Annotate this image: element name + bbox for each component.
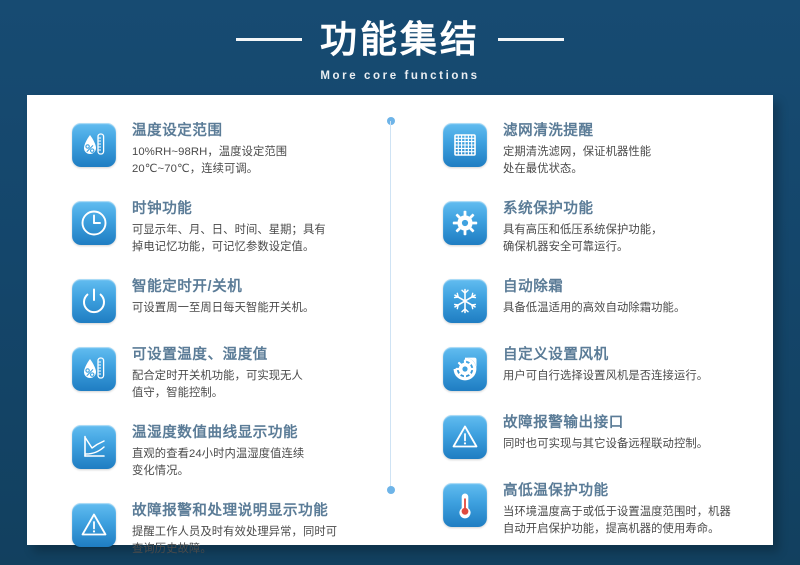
feature-item-set-temp-humidity: 可设置温度、湿度值 配合定时开关机功能，可实现无人 值守，智能控制。 [72, 344, 386, 401]
feature-title: 自动除霜 [503, 277, 685, 297]
blower-fan-icon [443, 347, 487, 391]
curve-chart-icon [72, 425, 116, 469]
feature-item-smart-timer-power: 智能定时开/关机 可设置周一至周日每天智能开关机。 [72, 276, 386, 323]
feature-item-curve-display: 温湿度数值曲线显示功能 直观的查看24小时内温湿度值连续 变化情况。 [72, 422, 386, 479]
feature-body: 自定义设置风机 用户可自行选择设置风机是否连接运行。 [487, 344, 708, 385]
humidity-thermometer-icon [72, 347, 116, 391]
feature-description: 可设置周一至周日每天智能开关机。 [132, 300, 314, 317]
feature-body: 时钟功能 可显示年、月、日、时间、星期；具有 掉电记忆功能，可记忆参数设定值。 [116, 198, 326, 255]
humidity-thermometer-icon [72, 123, 116, 167]
feature-title: 可设置温度、湿度值 [132, 345, 303, 365]
page-header: 功能集结 More core functions [0, 0, 800, 95]
feature-body: 可设置温度、湿度值 配合定时开关机功能，可实现无人 值守，智能控制。 [116, 344, 303, 401]
gear-icon [443, 201, 487, 245]
feature-body: 温湿度数值曲线显示功能 直观的查看24小时内温湿度值连续 变化情况。 [116, 422, 304, 479]
feature-title: 智能定时开/关机 [132, 277, 314, 297]
feature-item-temperature-range: 温度设定范围 10%RH~98RH，温度设定范围 20℃~70℃，连续可调。 [72, 120, 386, 177]
snowflake-icon [443, 279, 487, 323]
feature-description: 具有高压和低压系统保护功能， 确保机器安全可靠运行。 [503, 222, 663, 255]
feature-body: 系统保护功能 具有高压和低压系统保护功能， 确保机器安全可靠运行。 [487, 198, 663, 255]
feature-body: 故障报警和处理说明显示功能 提醒工作人员及时有效处理异常，同时可 查询历史故障。 [116, 500, 337, 557]
feature-title: 温湿度数值曲线显示功能 [132, 423, 304, 443]
feature-item-temp-protection: 高低温保护功能 当环境温度高于或低于设置温度范围时，机器 自动开启保护功能，提高… [443, 480, 759, 537]
feature-item-fault-alarm-display: 故障报警和处理说明显示功能 提醒工作人员及时有效处理异常，同时可 查询历史故障。 [72, 500, 386, 557]
feature-description: 同时也可实现与其它设备远程联动控制。 [503, 436, 708, 453]
clock-icon [72, 201, 116, 245]
feature-body: 故障报警输出接口 同时也可实现与其它设备远程联动控制。 [487, 412, 708, 453]
features-right-column: 滤网清洗提醒 定期清洗滤网，保证机器性能 处在最优状态。 [400, 95, 773, 545]
divider-line [390, 121, 391, 490]
feature-description: 定期清洗滤网，保证机器性能 处在最优状态。 [503, 144, 651, 177]
title-row: 功能集结 [236, 18, 564, 62]
feature-item-auto-defrost: 自动除霜 具备低温适用的高效自动除霜功能。 [443, 276, 759, 323]
feature-body: 自动除霜 具备低温适用的高效自动除霜功能。 [487, 276, 685, 317]
feature-title: 时钟功能 [132, 199, 326, 219]
page-subtitle: More core functions [320, 70, 479, 82]
features-left-column: 温度设定范围 10%RH~98RH，温度设定范围 20℃~70℃，连续可调。 时… [27, 95, 400, 545]
feature-description: 用户可自行选择设置风机是否连接运行。 [503, 368, 708, 385]
column-divider [386, 117, 395, 494]
feature-body: 温度设定范围 10%RH~98RH，温度设定范围 20℃~70℃，连续可调。 [116, 120, 287, 177]
feature-title: 故障报警输出接口 [503, 413, 708, 433]
warning-triangle-icon [443, 415, 487, 459]
features-columns: 温度设定范围 10%RH~98RH，温度设定范围 20℃~70℃，连续可调。 时… [27, 95, 773, 545]
feature-item-custom-fan: 自定义设置风机 用户可自行选择设置风机是否连接运行。 [443, 344, 759, 391]
feature-item-system-protection: 系统保护功能 具有高压和低压系统保护功能， 确保机器安全可靠运行。 [443, 198, 759, 255]
feature-description: 10%RH~98RH，温度设定范围 20℃~70℃，连续可调。 [132, 144, 287, 177]
feature-body: 滤网清洗提醒 定期清洗滤网，保证机器性能 处在最优状态。 [487, 120, 651, 177]
feature-description: 配合定时开关机功能，可实现无人 值守，智能控制。 [132, 368, 303, 401]
feature-title: 滤网清洗提醒 [503, 121, 651, 141]
title-rule-left [236, 38, 302, 41]
feature-description: 具备低温适用的高效自动除霜功能。 [503, 300, 685, 317]
title-rule-right [498, 38, 564, 41]
page-title: 功能集结 [320, 18, 480, 62]
feature-title: 高低温保护功能 [503, 481, 731, 501]
feature-item-filter-clean-reminder: 滤网清洗提醒 定期清洗滤网，保证机器性能 处在最优状态。 [443, 120, 759, 177]
feature-title: 故障报警和处理说明显示功能 [132, 501, 337, 521]
divider-dot-bottom [387, 486, 395, 494]
filter-mesh-icon [443, 123, 487, 167]
features-card: 温度设定范围 10%RH~98RH，温度设定范围 20℃~70℃，连续可调。 时… [27, 95, 773, 545]
feature-description: 直观的查看24小时内温湿度值连续 变化情况。 [132, 446, 304, 479]
feature-title: 自定义设置风机 [503, 345, 708, 365]
feature-body: 智能定时开/关机 可设置周一至周日每天智能开关机。 [116, 276, 314, 317]
feature-title: 系统保护功能 [503, 199, 663, 219]
feature-item-clock: 时钟功能 可显示年、月、日、时间、星期；具有 掉电记忆功能，可记忆参数设定值。 [72, 198, 386, 255]
feature-description: 可显示年、月、日、时间、星期；具有 掉电记忆功能，可记忆参数设定值。 [132, 222, 326, 255]
power-icon [72, 279, 116, 323]
feature-body: 高低温保护功能 当环境温度高于或低于设置温度范围时，机器 自动开启保护功能，提高… [487, 480, 731, 537]
feature-description: 当环境温度高于或低于设置温度范围时，机器 自动开启保护功能，提高机器的使用寿命。 [503, 504, 731, 537]
thermometer-icon [443, 483, 487, 527]
feature-description: 提醒工作人员及时有效处理异常，同时可 查询历史故障。 [132, 524, 337, 557]
warning-triangle-icon [72, 503, 116, 547]
feature-item-alarm-output-port: 故障报警输出接口 同时也可实现与其它设备远程联动控制。 [443, 412, 759, 459]
feature-title: 温度设定范围 [132, 121, 287, 141]
